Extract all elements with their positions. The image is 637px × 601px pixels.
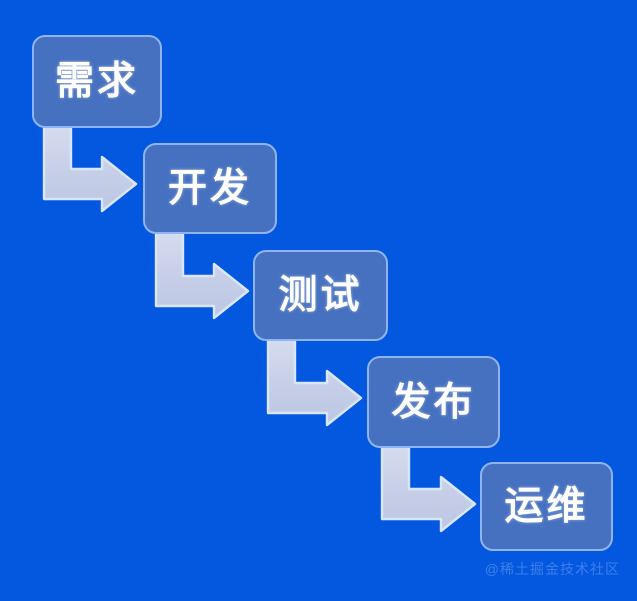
stage-box-development[interactable]: 开发: [143, 143, 277, 234]
connector-arrow-4: [382, 446, 475, 531]
connector-arrow-2: [156, 232, 248, 318]
stage-label-testing: 测试: [278, 276, 362, 315]
stage-label-operations: 运维: [504, 487, 588, 526]
stage-label-requirement: 需求: [55, 62, 139, 101]
stage-box-operations[interactable]: 运维: [480, 462, 613, 551]
stage-label-development: 开发: [168, 169, 252, 208]
waterfall-diagram: 需求 开发 测试 发布 运维 @稀土掘金技术社区: [0, 0, 637, 601]
connector-arrow-3: [268, 339, 361, 425]
watermark-text: @稀土掘金技术社区: [485, 559, 620, 579]
connector-arrow-1: [44, 126, 136, 211]
stage-label-release: 发布: [391, 383, 475, 422]
stage-box-testing[interactable]: 测试: [253, 250, 388, 341]
stage-box-requirement[interactable]: 需求: [32, 35, 162, 128]
stage-box-release[interactable]: 发布: [367, 356, 500, 448]
